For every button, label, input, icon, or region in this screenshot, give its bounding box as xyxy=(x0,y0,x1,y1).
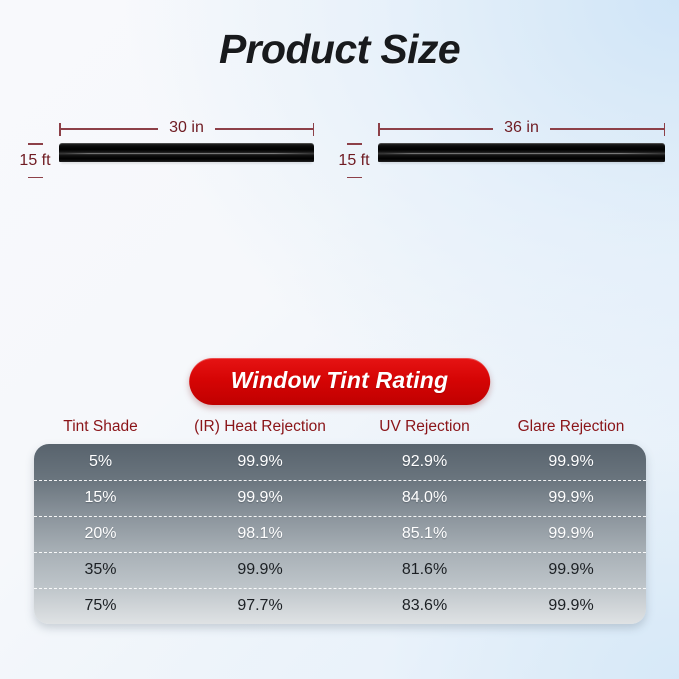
height-label: 15 ft xyxy=(338,145,369,177)
cell-glare-rejection: 99.9% xyxy=(496,525,646,543)
cell-tint-shade: 20% xyxy=(34,525,167,543)
window-tint-rating-table: Tint Shade (IR) Heat Rejection UV Reject… xyxy=(34,418,646,624)
width-dimension-30in: 30 in xyxy=(59,117,314,141)
product-size-diagrams: 30 in 15 ft 36 in xyxy=(0,113,679,313)
cell-uv-rejection: 81.6% xyxy=(353,561,496,579)
cell-glare-rejection: 99.9% xyxy=(496,453,646,471)
cell-heat-rejection: 99.9% xyxy=(167,453,353,471)
infographic-page: Product Size 30 in 15 ft xyxy=(0,0,679,679)
width-label: 36 in xyxy=(493,119,550,137)
cell-heat-rejection: 97.7% xyxy=(167,597,353,615)
height-label: 15 ft xyxy=(19,145,50,177)
cell-heat-rejection: 98.1% xyxy=(167,525,353,543)
cell-uv-rejection: 83.6% xyxy=(353,597,496,615)
film-sheet-body xyxy=(380,161,663,162)
table-row: 20% 98.1% 85.1% 99.9% xyxy=(34,516,646,552)
cell-glare-rejection: 99.9% xyxy=(496,489,646,507)
window-tint-rating-badge: Window Tint Rating xyxy=(189,358,491,405)
film-roll-edge xyxy=(59,143,314,162)
cell-tint-shade: 75% xyxy=(34,597,167,615)
cell-heat-rejection: 99.9% xyxy=(167,489,353,507)
table-row: 15% 99.9% 84.0% 99.9% xyxy=(34,480,646,516)
dimension-cap-icon xyxy=(664,123,666,136)
dimension-cap-icon xyxy=(28,177,43,179)
dimension-rule-icon xyxy=(61,128,159,130)
film-sheet-body xyxy=(61,161,312,162)
table-row: 75% 97.7% 83.6% 99.9% xyxy=(34,588,646,624)
table-body: 5% 99.9% 92.9% 99.9% 15% 99.9% 84.0% 99.… xyxy=(34,444,646,624)
film-roll-edge xyxy=(378,143,665,162)
table-row: 35% 99.9% 81.6% 99.9% xyxy=(34,552,646,588)
column-header-glare-rejection: Glare Rejection xyxy=(496,418,646,436)
cell-tint-shade: 15% xyxy=(34,489,167,507)
column-header-heat-rejection: (IR) Heat Rejection xyxy=(167,418,353,436)
cell-uv-rejection: 92.9% xyxy=(353,453,496,471)
width-dimension-36in: 36 in xyxy=(378,117,665,141)
cell-tint-shade: 35% xyxy=(34,561,167,579)
cell-glare-rejection: 99.9% xyxy=(496,597,646,615)
dimension-cap-icon xyxy=(313,123,315,136)
cell-heat-rejection: 99.9% xyxy=(167,561,353,579)
dimension-cap-icon xyxy=(347,177,362,179)
column-header-tint-shade: Tint Shade xyxy=(34,418,167,436)
width-label: 30 in xyxy=(158,119,215,137)
cell-uv-rejection: 84.0% xyxy=(353,489,496,507)
cell-uv-rejection: 85.1% xyxy=(353,525,496,543)
table-header-row: Tint Shade (IR) Heat Rejection UV Reject… xyxy=(34,418,646,444)
dimension-rule-icon xyxy=(215,128,313,130)
dimension-rule-icon xyxy=(380,128,494,130)
column-header-uv-rejection: UV Rejection xyxy=(353,418,496,436)
cell-tint-shade: 5% xyxy=(34,453,167,471)
table-row: 5% 99.9% 92.9% 99.9% xyxy=(34,444,646,480)
cell-glare-rejection: 99.9% xyxy=(496,561,646,579)
dimension-rule-icon xyxy=(550,128,664,130)
page-title: Product Size xyxy=(0,26,679,73)
